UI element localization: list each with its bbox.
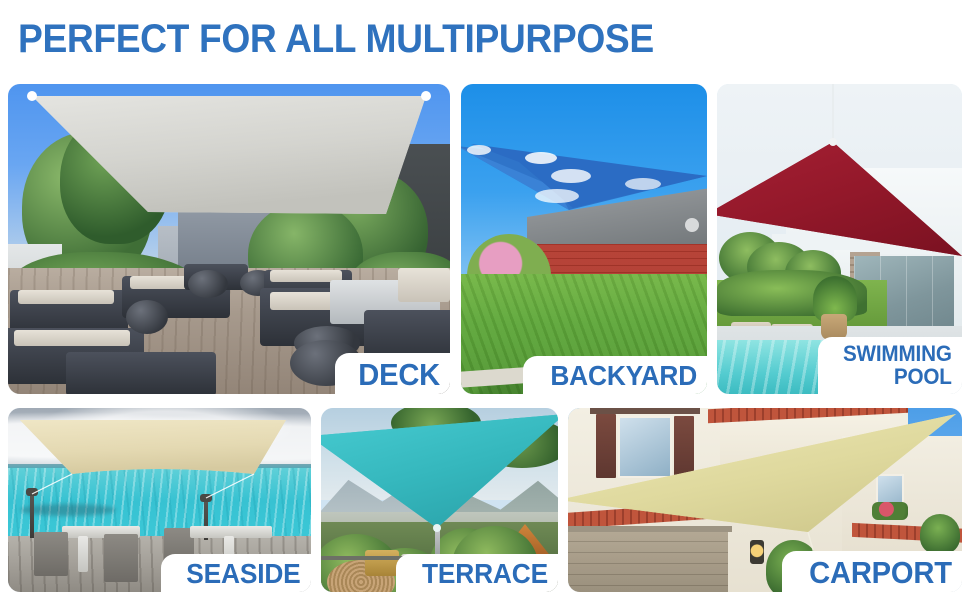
caption-text-line1: SWIMMING [843,343,952,365]
shade-sail-grey [8,84,450,394]
panel-carport[interactable]: CARPORT [568,408,962,592]
deck-scene [8,84,450,394]
caption-text-line2: POOL [843,366,952,388]
panel-swimming-pool[interactable]: SWIMMING POOL [717,84,962,394]
caption-text: SEASIDE [187,560,301,588]
caption-text: BACKYARD [550,362,697,390]
promo-banner: PERFECT FOR ALL MULTIPURPOSE [0,0,970,600]
panel-deck[interactable]: DECK [8,84,450,394]
caption-text: TERRACE [422,560,548,588]
caption-text: DECK [358,359,440,390]
panel-backyard[interactable]: BACKYARD [461,84,707,394]
panel-caption-seaside: SEASIDE [161,554,311,592]
panel-terrace[interactable]: TERRACE [321,408,558,592]
panel-caption-carport: CARPORT [782,551,962,592]
panel-caption-deck: DECK [335,353,450,394]
panel-caption-swimming-pool: SWIMMING POOL [818,337,962,394]
panel-caption-terrace: TERRACE [396,554,558,592]
shade-sail-blue [461,84,707,394]
backyard-scene [461,84,707,394]
page-title: PERFECT FOR ALL MULTIPURPOSE [18,16,654,62]
panel-caption-backyard: BACKYARD [523,356,707,394]
panel-seaside[interactable]: SEASIDE [8,408,311,592]
caption-text: CARPORT [809,557,952,588]
